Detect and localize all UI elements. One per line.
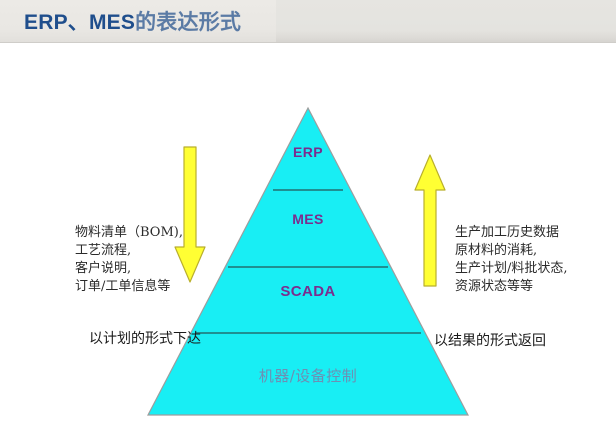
pyramid-tier-label-mes: MES <box>258 211 358 227</box>
left-flow-detail-line: 订单/工单信息等 <box>75 278 183 296</box>
right-flow-detail-line: 生产加工历史数据 <box>455 224 568 242</box>
page-title-cjk: 的表达形式 <box>135 10 241 34</box>
right-flow-detail-line: 生产计划/料批状态, <box>455 260 568 278</box>
left-flow-detail-line: 工艺流程, <box>75 242 183 260</box>
diagram-canvas: ERP MES SCADA 机器/设备控制 物料清单（BOM), 工艺流程, 客… <box>0 43 616 432</box>
up-arrow-icon <box>415 155 445 286</box>
page-title: ERP、MES的表达形式 <box>24 6 241 36</box>
right-flow-detail-line: 资源状态等等 <box>455 278 568 296</box>
right-flow-caption: 以结果的形式返回 <box>434 330 546 350</box>
pyramid-tier-label-scada: SCADA <box>248 283 368 300</box>
right-flow-detail-text: 生产加工历史数据 原材料的消耗, 生产计划/料批状态, 资源状态等等 <box>455 224 568 296</box>
left-flow-detail-text: 物料清单（BOM), 工艺流程, 客户说明, 订单/工单信息等 <box>75 224 183 296</box>
pyramid-tier-label-machine-control: 机器/设备控制 <box>228 365 388 386</box>
left-flow-caption: 以计划的形式下达 <box>89 328 201 348</box>
right-flow-detail-line: 原材料的消耗, <box>455 242 568 260</box>
left-flow-detail-line: 物料清单（BOM), <box>75 224 183 242</box>
header-bar: ERP、MES的表达形式 <box>0 0 616 42</box>
pyramid-tier-label-erp: ERP <box>258 144 358 160</box>
page-title-latin: ERP、MES <box>24 11 135 34</box>
left-flow-detail-line: 客户说明, <box>75 260 183 278</box>
